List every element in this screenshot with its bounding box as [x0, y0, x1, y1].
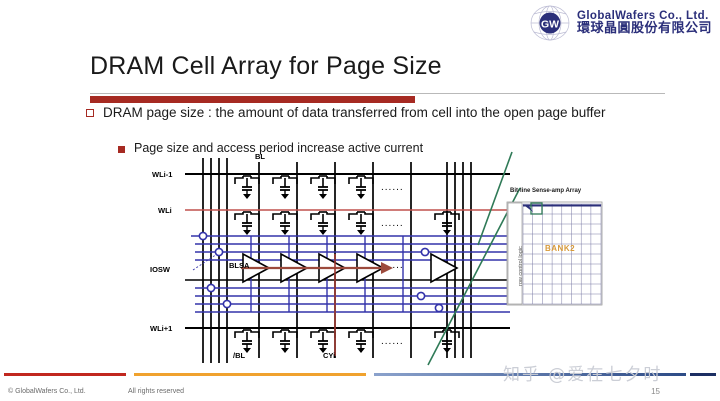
title-divider: [90, 93, 665, 94]
inset-row-control-label: row control logic: [518, 246, 524, 286]
watermark: 知乎 @爱在七夕时: [503, 360, 662, 385]
inset-title: Bit-line Sense-amp Array: [510, 188, 581, 194]
footer-rule-red: [4, 373, 126, 376]
company-name-cn: 環球晶圓股份有限公司: [577, 22, 712, 36]
bullet-level1-text: DRAM page size : the amount of data tran…: [103, 104, 606, 121]
company-logo: GW GlobalWafers Co., Ltd. 環球晶圓股份有限公司: [529, 4, 712, 42]
footer-rule-dark: [690, 373, 716, 376]
diagram-label-blsa: BLSA: [229, 261, 249, 270]
bullet-square-filled-icon: [118, 146, 125, 153]
diagram-label-wli-minus-1: WLi-1: [152, 170, 172, 179]
page-title: DRAM Cell Array for Page Size: [90, 52, 670, 81]
bullet-square-open-icon: [86, 109, 94, 117]
bank-array-inset: Bit-line Sense-amp Array BANK2 row contr…: [505, 186, 625, 311]
svg-text:......: ......: [381, 218, 404, 229]
diagram-label-nbl: /BL: [233, 351, 245, 360]
diagram-label-iosw: IOSW: [150, 265, 170, 274]
inset-bank-label: BANK2: [545, 244, 575, 253]
diagram-label-cyi: CYi: [323, 351, 335, 360]
footer-copyright: © GlobalWafers Co., Ltd.: [8, 388, 86, 395]
diagram-label-bl: BL: [255, 152, 265, 161]
bullet-level2-text: Page size and access period increase act…: [134, 141, 423, 157]
diagram-label-wli: WLi: [158, 206, 172, 215]
page-number: 15: [651, 387, 660, 396]
diagram-label-wli-plus-1: WLi+1: [150, 324, 172, 333]
footer-rights: All rights reserved: [128, 388, 184, 395]
footer-rule-orange: [134, 373, 366, 376]
bullet-level1: DRAM page size : the amount of data tran…: [86, 104, 686, 121]
gw-globe-icon: GW: [529, 4, 571, 42]
title-accent-bar: [90, 96, 415, 103]
svg-text:......: ......: [381, 336, 404, 347]
svg-text:......: ......: [381, 182, 404, 193]
slide-canvas: GW GlobalWafers Co., Ltd. 環球晶圓股份有限公司 DRA…: [0, 0, 720, 401]
svg-text:GW: GW: [541, 19, 559, 31]
